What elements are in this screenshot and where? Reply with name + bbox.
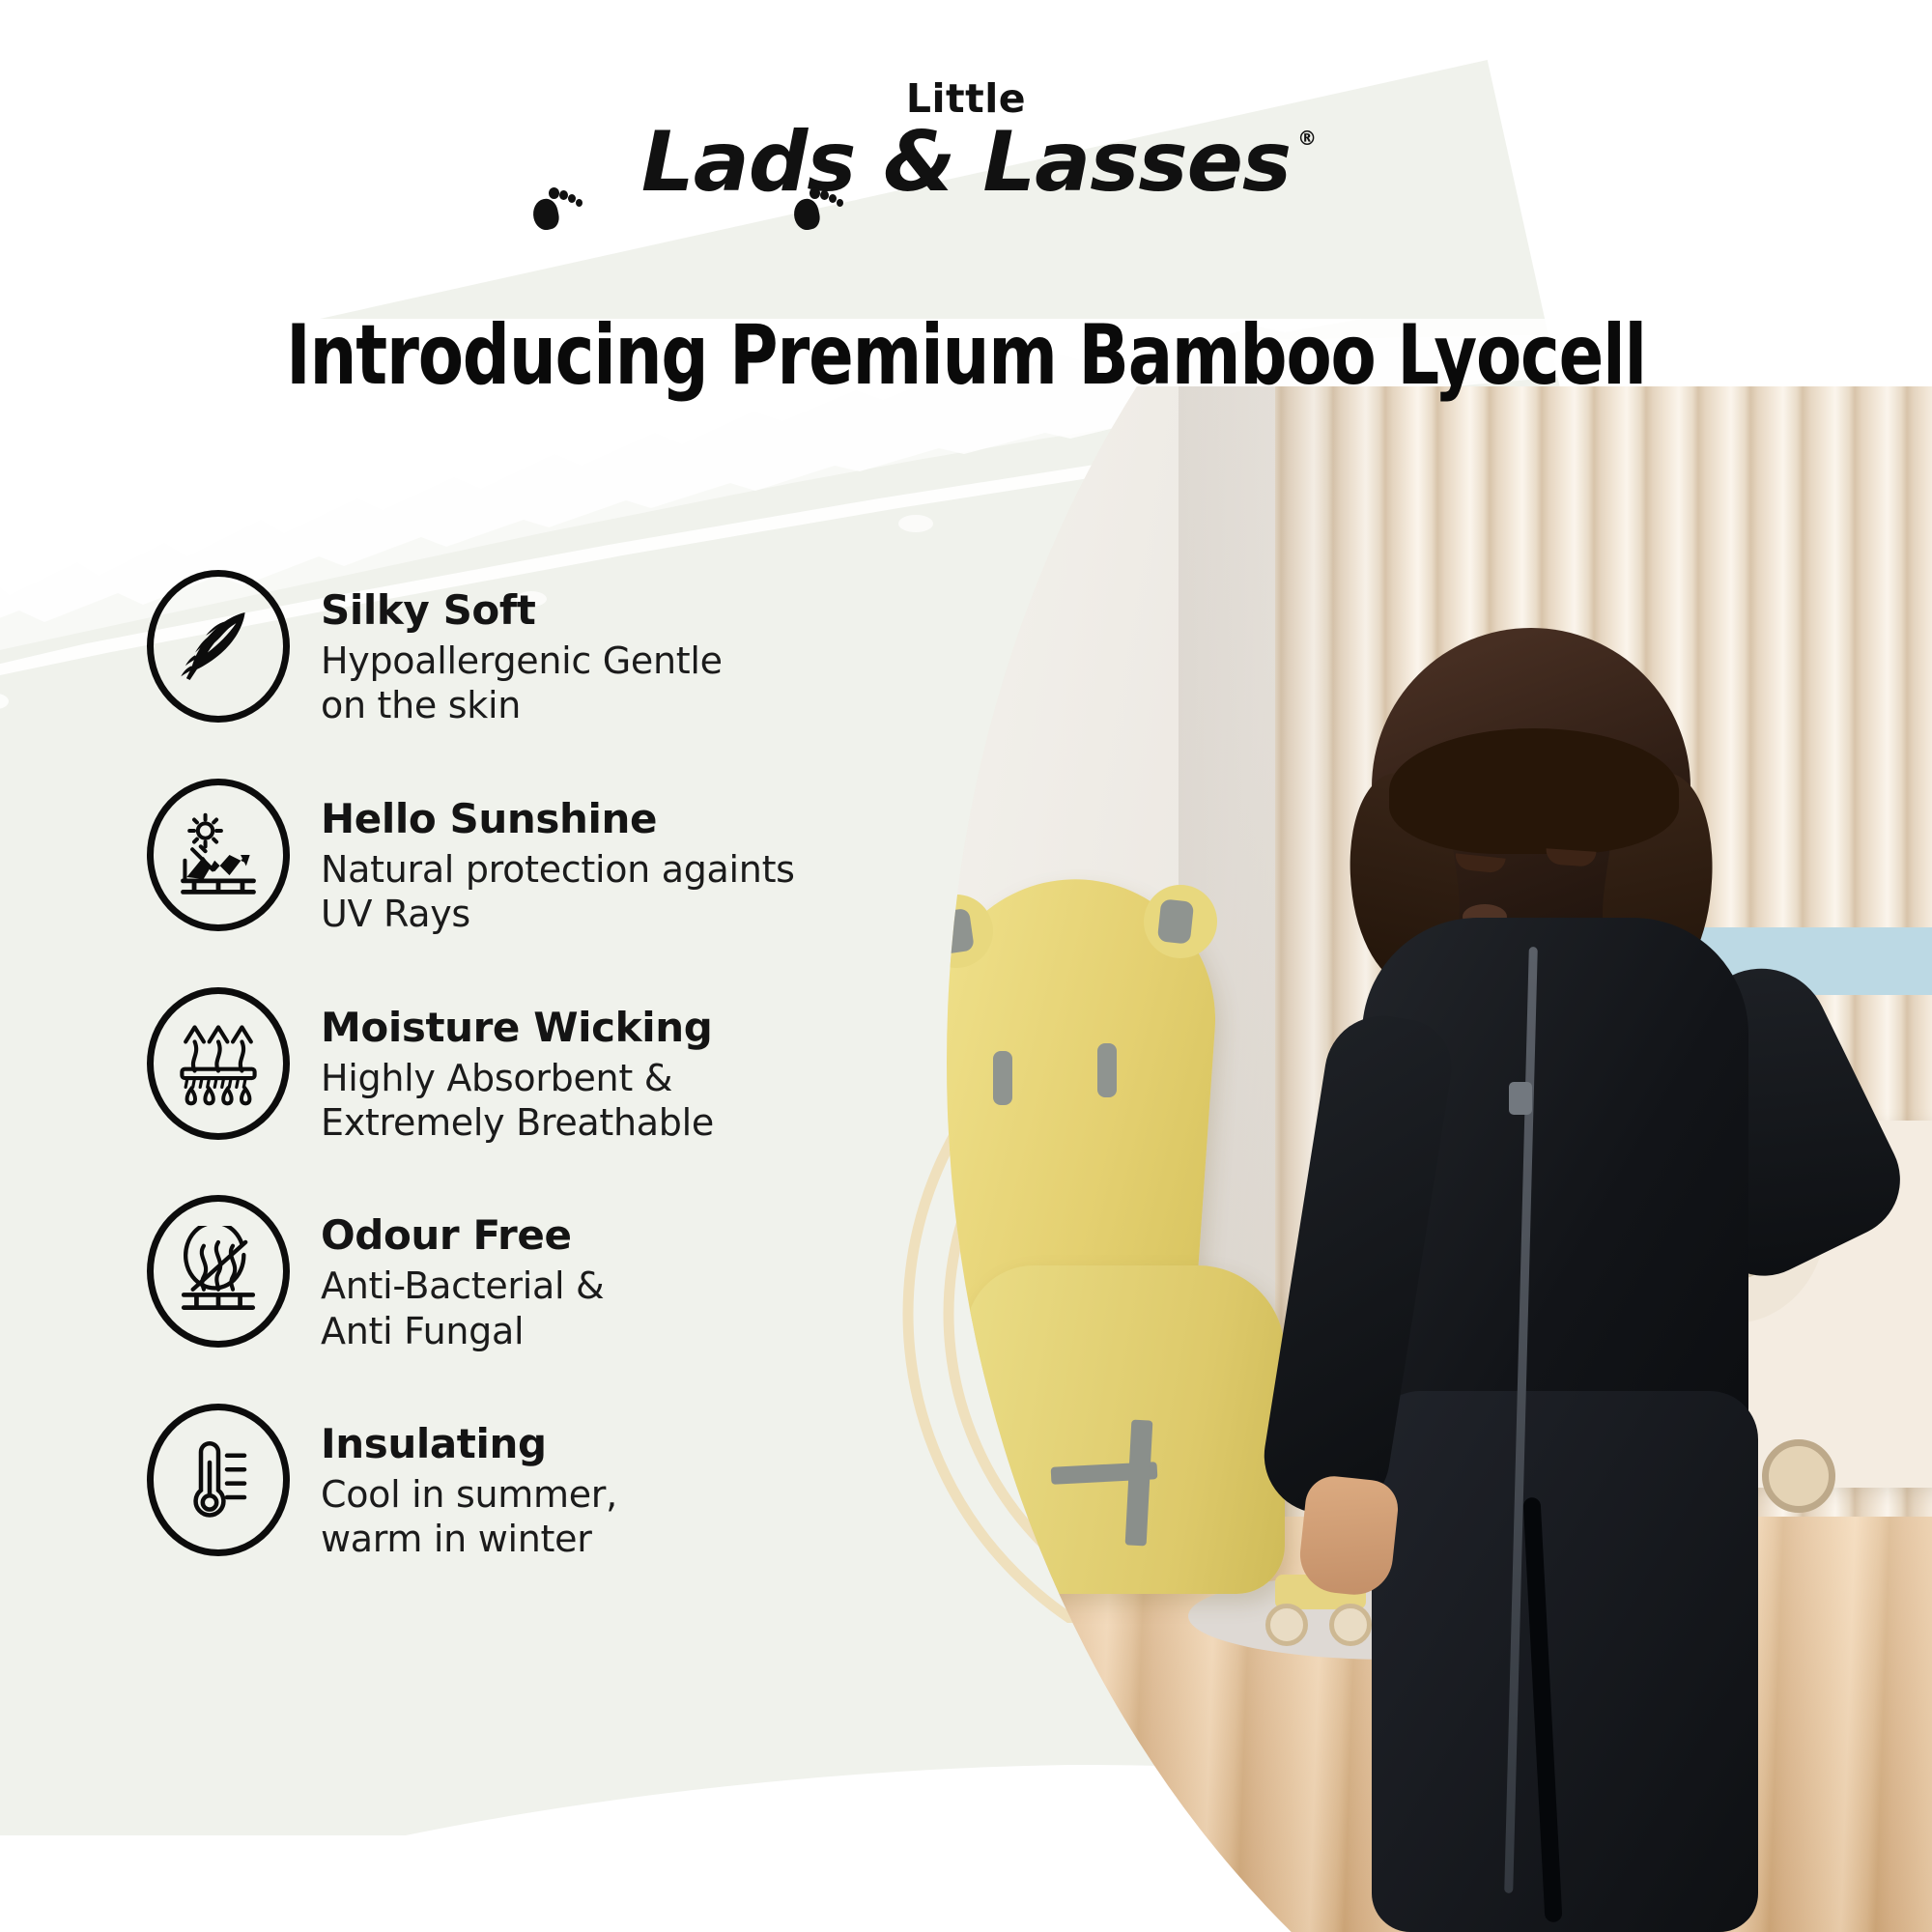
feature-title: Silky Soft: [321, 587, 723, 633]
feature-title: Moisture Wicking: [321, 1005, 714, 1050]
brand-logo-little: Little: [0, 79, 1932, 119]
brand-logo-name: Lads & Lasses ®: [641, 121, 1291, 206]
feature-title: Insulating: [321, 1421, 617, 1466]
sun-uv-protection-icon: [147, 779, 290, 931]
feature-item-silky-soft: Silky Soft Hypoallergenic Gentle on the …: [147, 570, 910, 728]
feature-title: Odour Free: [321, 1212, 604, 1258]
thermometer-icon: [147, 1404, 290, 1556]
feature-description: Anti-Bacterial & Anti Fungal: [321, 1264, 604, 1353]
moisture-wicking-icon: [147, 987, 290, 1140]
feather-icon: [147, 570, 290, 723]
feature-description: Natural protection againts UV Rays: [321, 847, 795, 937]
feature-description: Hypoallergenic Gentle on the skin: [321, 639, 723, 728]
feature-item-insulating: Insulating Cool in summer, warm in winte…: [147, 1404, 910, 1562]
poster-canvas: Little Lads & Lasses ® Introducing Premi…: [0, 0, 1932, 1932]
feature-item-odour-free: Odour Free Anti-Bacterial & Anti Fungal: [147, 1195, 910, 1353]
no-odour-icon: [147, 1195, 290, 1348]
footprint-icon-right: [794, 187, 823, 230]
feature-list: Silky Soft Hypoallergenic Gentle on the …: [147, 570, 910, 1562]
footprint-icon-left: [533, 187, 562, 230]
brand-logo[interactable]: Little Lads & Lasses ®: [0, 79, 1932, 206]
registered-trademark-icon: ®: [1297, 128, 1316, 148]
page-title: Introducing Premium Bamboo Lyocell: [193, 307, 1739, 404]
feature-item-hello-sunshine: Hello Sunshine Natural protection againt…: [147, 779, 910, 937]
brand-logo-name-text: Lads & Lasses: [641, 114, 1291, 211]
feature-item-moisture-wicking: Moisture Wicking Highly Absorbent & Extr…: [147, 987, 910, 1146]
feature-description: Cool in summer, warm in winter: [321, 1472, 617, 1562]
feature-description: Highly Absorbent & Extremely Breathable: [321, 1056, 714, 1146]
feature-title: Hello Sunshine: [321, 796, 795, 841]
